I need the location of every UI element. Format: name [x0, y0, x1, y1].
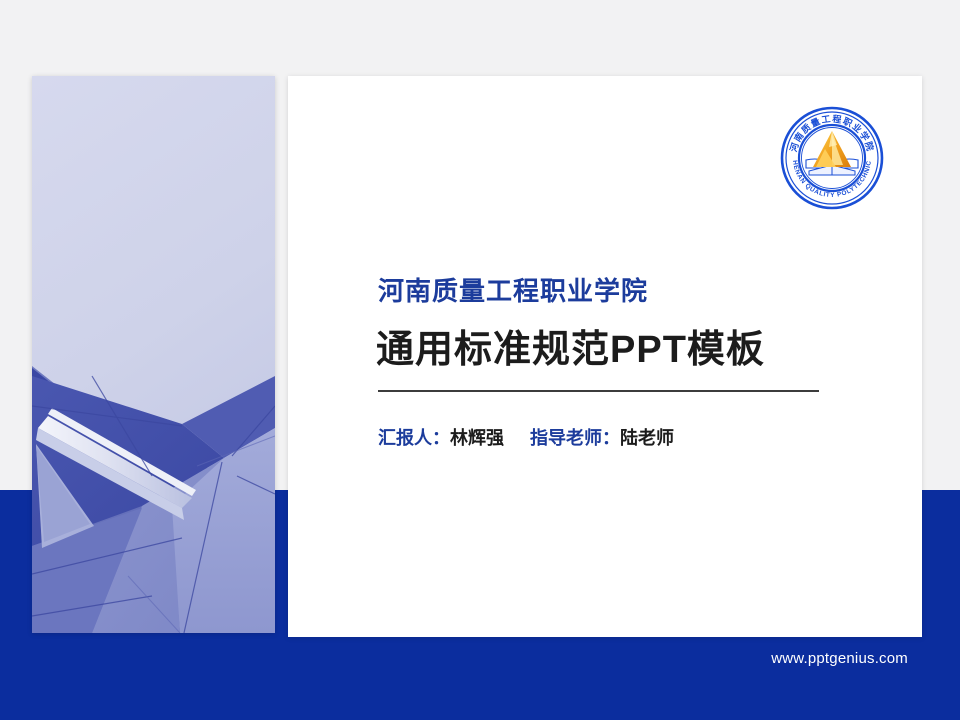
architecture-facade-photo	[32, 76, 275, 633]
advisor-name: 陆老师	[620, 428, 674, 448]
school-name-subtitle: 河南质量工程职业学院	[378, 271, 648, 308]
reporter-label: 汇报人：	[378, 428, 450, 448]
presentation-slide: 河南质量工程职业学院 HENAN QUALITY POLYTECHNIC 河南质…	[0, 0, 960, 720]
footer-website-url: www.pptgenius.com	[771, 650, 908, 667]
reporter-name: 林辉强	[450, 428, 504, 448]
page-title: 通用标准规范PPT模板	[376, 318, 765, 373]
title-divider	[378, 390, 819, 392]
presenter-line: 汇报人：林辉强指导老师：陆老师	[378, 424, 674, 450]
university-logo: 河南质量工程职业学院 HENAN QUALITY POLYTECHNIC	[779, 105, 885, 211]
advisor-label: 指导老师：	[530, 428, 620, 448]
